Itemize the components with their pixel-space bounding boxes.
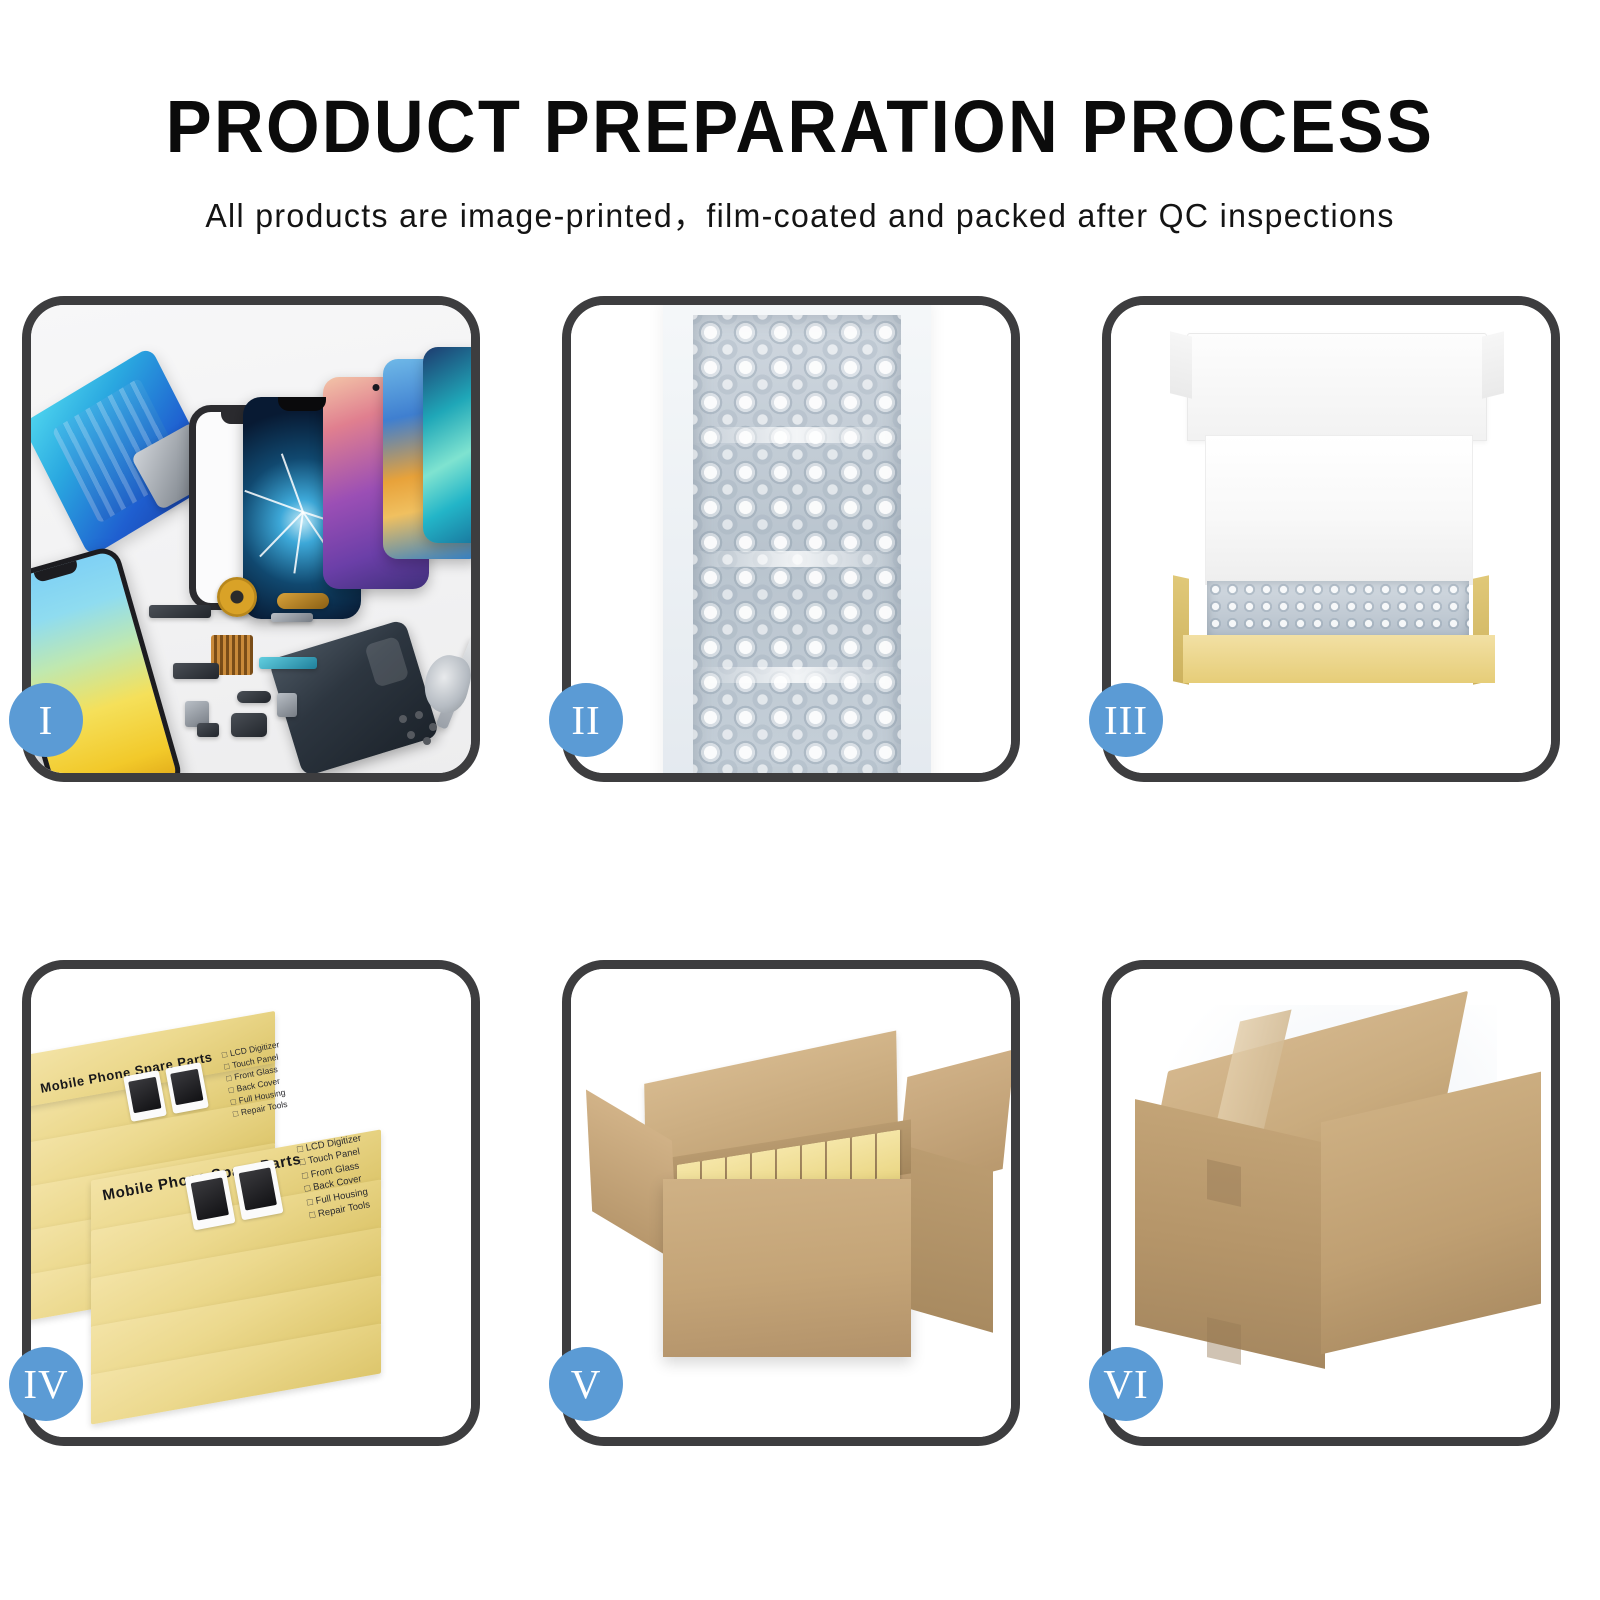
small-part-graphic: [197, 723, 219, 737]
header: PRODUCT PREPARATION PROCESS All products…: [0, 0, 1600, 237]
carton-tab-lower: [1207, 1317, 1241, 1365]
mailer-front-panel-graphic: [1183, 635, 1495, 683]
teal-phone-graphic: [423, 347, 471, 543]
step-badge-1: I: [9, 683, 83, 757]
step-badge-6: VI: [1089, 1347, 1163, 1421]
bubble-wrap-sleeve-graphic: [663, 305, 931, 773]
step-panel-5: V: [562, 960, 1020, 1446]
camera-module-graphic: [173, 663, 219, 679]
step-badge-5: V: [549, 1347, 623, 1421]
bubble-wrap-body-graphic: [693, 315, 901, 773]
carton-right-face-graphic: [911, 1147, 993, 1333]
step-1-image: [31, 305, 471, 773]
page-subtitle: All products are image-printed，film-coat…: [24, 189, 1576, 237]
screws-graphic: [397, 711, 449, 747]
speaker-part-graphic: [149, 605, 211, 618]
connector-part-graphic: [271, 613, 313, 622]
vibrator-part-graphic: [237, 691, 271, 703]
step-badge-2: II: [549, 683, 623, 757]
step-5-image: [571, 969, 1011, 1437]
sealed-carton-side-graphic: [1321, 1072, 1541, 1355]
step-4-image: Mobile Phone Spare Parts LCD Digitizer T…: [31, 969, 471, 1437]
step-panel-4: Mobile Phone Spare Parts LCD Digitizer T…: [22, 960, 480, 1446]
carton-tab-upper: [1207, 1159, 1241, 1207]
carton-front-face-graphic: [663, 1179, 911, 1357]
ribbon-cable-graphic: [259, 657, 317, 669]
flex-cable-graphic: [277, 593, 329, 609]
gold-box-stack-graphic: Mobile Phone Spare Parts LCD Digitizer T…: [31, 969, 471, 1437]
button-part-graphic: [277, 693, 297, 717]
page-title: PRODUCT PREPARATION PROCESS: [56, 84, 1544, 169]
box-checklist-back: LCD Digitizer Touch Panel Front Glass Ba…: [221, 1038, 291, 1120]
step-panel-6: VI: [1102, 960, 1560, 1446]
wrap-highlight-3: [693, 667, 901, 683]
wrap-highlight-2: [693, 551, 901, 567]
step-badge-4: IV: [9, 1347, 83, 1421]
step-2-image: [571, 305, 1011, 773]
step-panel-3: III: [1102, 296, 1560, 782]
product-preparation-infographic: PRODUCT PREPARATION PROCESS All products…: [0, 0, 1600, 1600]
step-badge-3: III: [1089, 683, 1163, 757]
mailer-lid-graphic: [1187, 333, 1487, 441]
earpiece-part-graphic: [231, 713, 267, 737]
wrapped-product-in-box-graphic: [1207, 581, 1469, 639]
steps-grid: I II: [22, 296, 1578, 1422]
step-panel-1: I: [22, 296, 480, 782]
mailer-back-wall-graphic: [1205, 435, 1473, 585]
wrap-highlight-1: [693, 427, 901, 443]
bubble-grid-offset-graphic: [693, 315, 901, 773]
step-3-image: [1111, 305, 1551, 773]
step-6-image: [1111, 969, 1551, 1437]
wireless-charging-coil-graphic: [217, 577, 257, 617]
step-panel-2: II: [562, 296, 1020, 782]
